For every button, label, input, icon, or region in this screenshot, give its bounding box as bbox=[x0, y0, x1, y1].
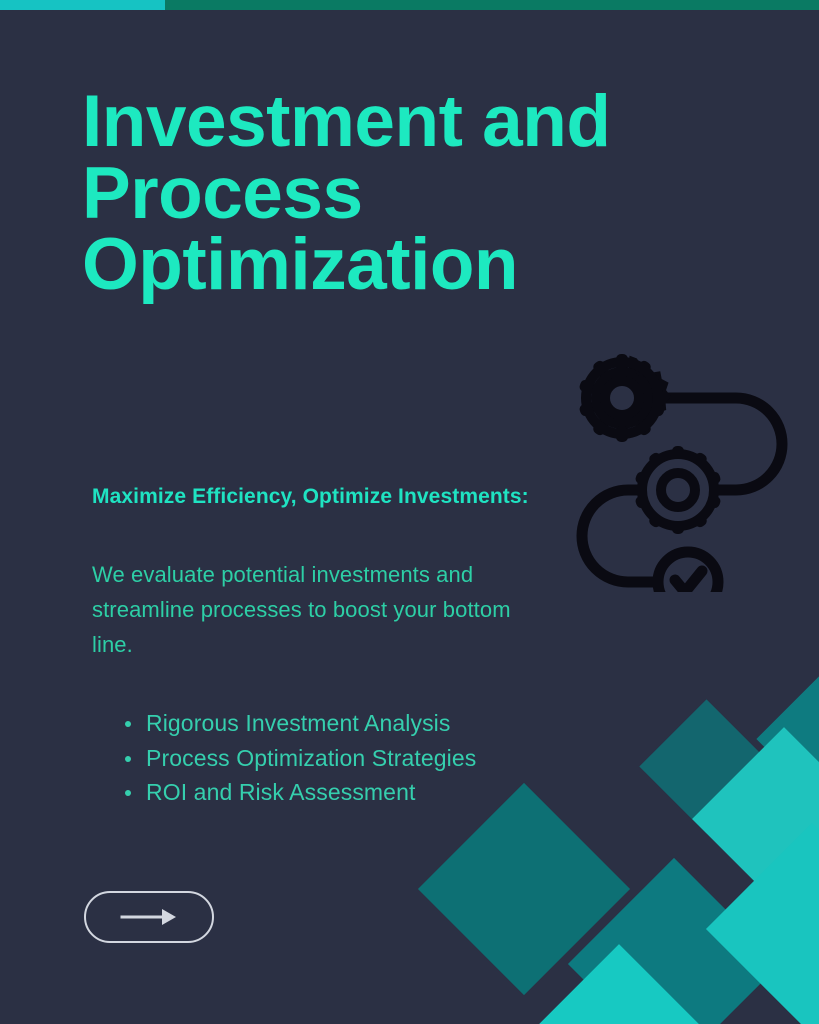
process-flow-gears-illustration bbox=[576, 352, 800, 592]
gear-icon bbox=[578, 353, 676, 442]
decor-square-bright-upper bbox=[692, 727, 819, 911]
feature-list: Rigorous Investment Analysis Process Opt… bbox=[120, 706, 542, 809]
top-accent-bar bbox=[0, 0, 819, 10]
page-title-line-2: Process bbox=[82, 158, 762, 230]
decor-square-bright-bottom bbox=[534, 944, 704, 1024]
accent-segment-bright bbox=[0, 0, 165, 10]
list-item: Process Optimization Strategies bbox=[120, 741, 542, 775]
decor-square-mid-dark bbox=[568, 858, 780, 1024]
arrow-pill-button[interactable] bbox=[84, 891, 214, 943]
page-title: Investment and Process Optimization bbox=[82, 86, 762, 301]
page-title-line-3: Optimization bbox=[82, 229, 762, 301]
decor-square-corner-dark bbox=[756, 675, 819, 802]
decor-square-bright-lower bbox=[706, 823, 819, 1024]
subheading: Maximize Efficiency, Optimize Investment… bbox=[92, 480, 542, 514]
poster-slide: Investment and Process Optimization bbox=[0, 0, 819, 1024]
list-item: ROI and Risk Assessment bbox=[120, 775, 542, 809]
accent-segment-dark bbox=[165, 0, 819, 10]
content-block: Maximize Efficiency, Optimize Investment… bbox=[92, 480, 542, 809]
list-item: Rigorous Investment Analysis bbox=[120, 706, 542, 740]
body-paragraph: We evaluate potential investments and st… bbox=[92, 558, 542, 662]
decor-square-small-dark bbox=[639, 699, 773, 833]
gear-icon bbox=[634, 446, 721, 534]
arrow-right-icon bbox=[120, 907, 178, 927]
check-circle-icon bbox=[658, 552, 718, 592]
page-title-line-1: Investment and bbox=[82, 86, 762, 158]
decor-square-large-dark bbox=[418, 783, 630, 995]
